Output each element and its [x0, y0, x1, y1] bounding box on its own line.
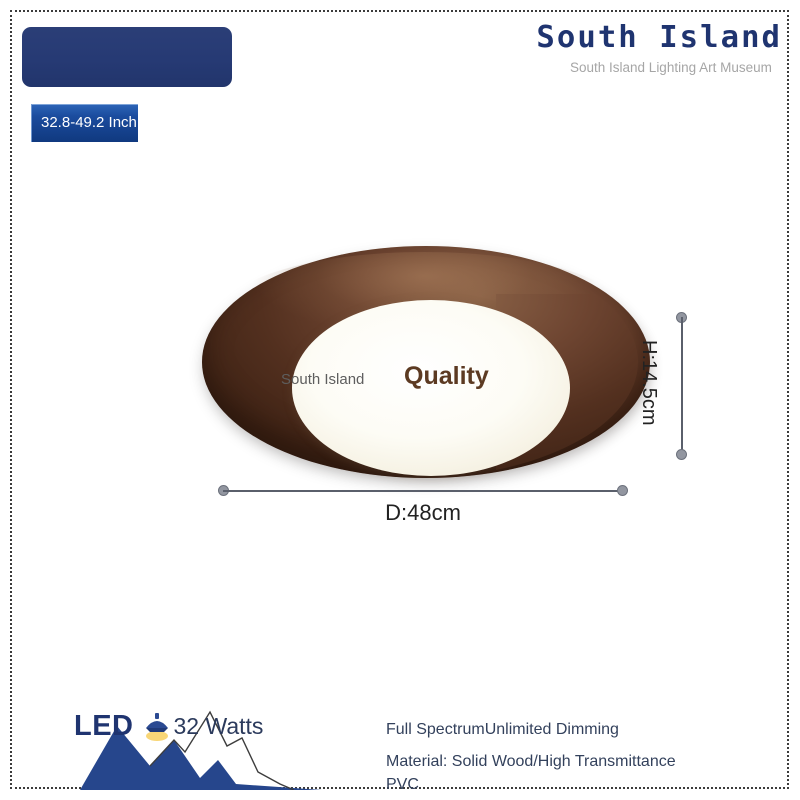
dimension-endpoint-bottom [676, 449, 687, 460]
product-headline: Quality Room [404, 362, 567, 391]
product-illustration: South Island Quality Room [196, 242, 656, 482]
pendant-lamp-icon [140, 712, 174, 742]
height-label: H:14.5cm [637, 340, 660, 426]
brand-block: South Island South Island Lighting Art M… [482, 22, 782, 77]
brand-title: South Island [476, 22, 782, 54]
spec-item-dimming: Full SpectrumUnlimited Dimming [386, 718, 686, 741]
spec-list: Full SpectrumUnlimited Dimming Material:… [386, 718, 686, 797]
watts-label: 32 Watts [174, 713, 264, 740]
spec-item-material: Material: Solid Wood/High Transmittance … [386, 750, 686, 796]
product-spec-card: South Island South Island Lighting Art M… [0, 0, 800, 800]
wood-color-badge[interactable] [22, 27, 232, 87]
dimension-endpoint-right [617, 485, 628, 496]
size-range-label: 32.8-49.2 Inch [41, 114, 137, 131]
dimension-rule-vertical [681, 317, 683, 455]
led-spec-row: LED 32 Watts [74, 710, 263, 743]
diameter-label: D:48cm [218, 500, 628, 526]
led-label: LED [74, 710, 134, 743]
diameter-dimension-line [218, 486, 628, 496]
product-brand-mark: South Island [281, 371, 364, 388]
dimension-rule-horizontal [223, 490, 623, 492]
size-range-badge[interactable]: 32.8-49.2 Inch [31, 104, 138, 142]
brand-subtitle: South Island Lighting Art Museum [570, 59, 782, 77]
height-dimension-line [676, 312, 688, 460]
